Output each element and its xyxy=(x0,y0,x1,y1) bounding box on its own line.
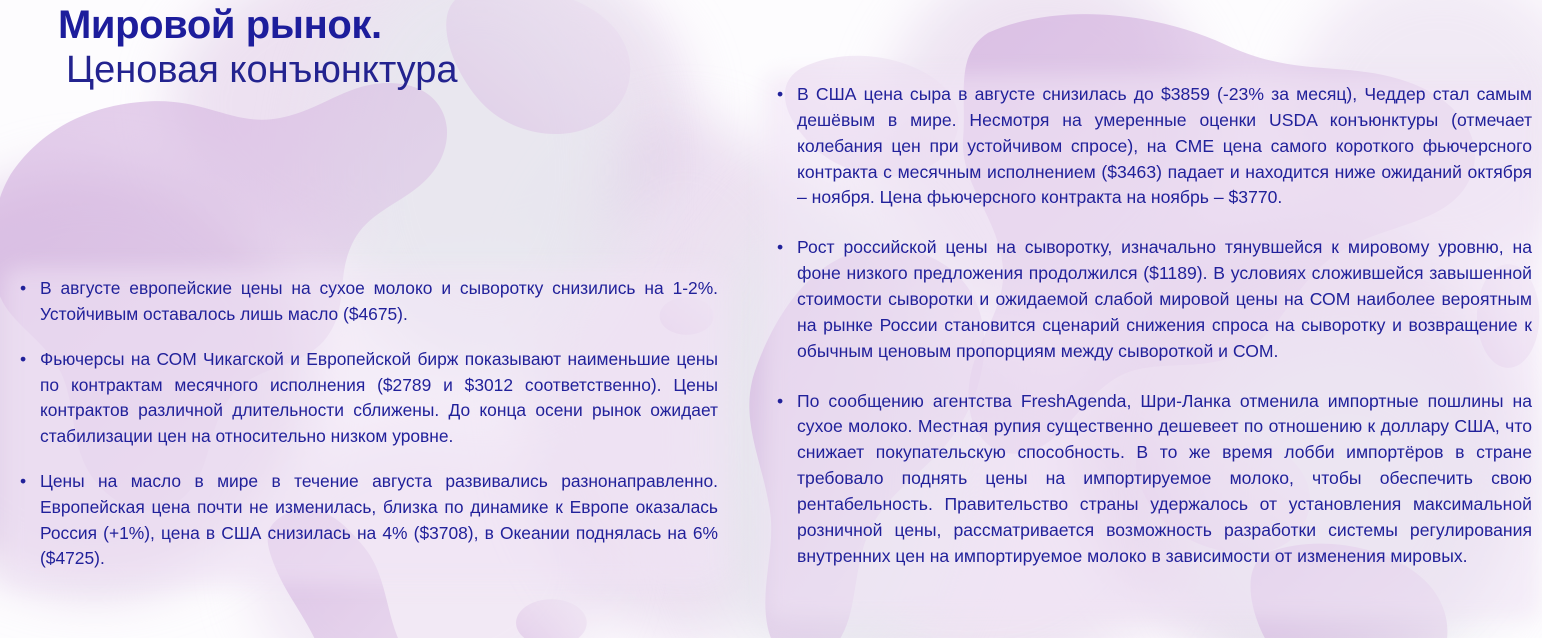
slide-canvas: Мировой рынок. Ценовая конъюнктура В авг… xyxy=(0,0,1542,638)
header: Мировой рынок. Ценовая конъюнктура xyxy=(58,4,458,92)
list-item: Рост российской цены на сыворотку, изнач… xyxy=(775,235,1532,364)
list-item: Фьючерсы на СОМ Чикагской и Европейской … xyxy=(18,347,718,449)
left-text-column: В августе европейские цены на сухое моло… xyxy=(18,276,718,572)
page-subtitle: Ценовая конъюнктура xyxy=(66,49,458,92)
list-item: По сообщению агентства FreshAgenda, Шри-… xyxy=(775,389,1532,570)
right-text-column: В США цена сыра в августе снизилась до $… xyxy=(775,82,1532,594)
list-item: В августе европейские цены на сухое моло… xyxy=(18,276,718,327)
list-item: Цены на масло в мире в течение августа р… xyxy=(18,469,718,571)
list-item: В США цена сыра в августе снизилась до $… xyxy=(775,82,1532,211)
page-title: Мировой рынок. xyxy=(58,4,458,47)
